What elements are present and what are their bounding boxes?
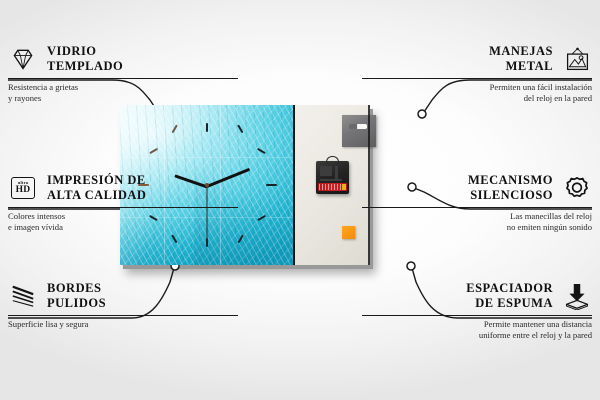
feature-title: MANEJAS METAL: [489, 44, 553, 75]
feature-header: ESPACIADOR DE ESPUMA: [362, 281, 592, 312]
feature-underline: [8, 78, 238, 79]
feature-header: MECANISMO SILENCIOSO: [362, 173, 592, 204]
metal-hanger-plate: [342, 115, 376, 147]
movement-detail: [335, 166, 338, 180]
feature-description: Las manecillas del reloj no emiten ningú…: [362, 211, 592, 234]
panel-seam: [120, 157, 294, 158]
movement-detail: [320, 179, 342, 181]
gear-icon: [562, 174, 592, 202]
feature-header: BORDES PULIDOS: [8, 281, 238, 312]
movement-detail: [320, 166, 332, 176]
feature-description: Superficie lisa y segura: [8, 319, 238, 330]
clock-back-panel: [294, 105, 370, 265]
diamond-icon: [8, 45, 38, 73]
feature-espaciador-espuma: ESPACIADOR DE ESPUMA Permite mantener un…: [362, 281, 592, 341]
feature-header: MANEJAS METAL: [362, 44, 592, 75]
movement-hanging-loop: [326, 156, 339, 164]
label-text-lines: [319, 184, 342, 190]
feature-description: Permite mantener una distancia uniforme …: [362, 319, 592, 342]
feature-header: VIDRIO TEMPLADO: [8, 44, 238, 75]
clock-tick: [206, 123, 208, 132]
diagonal-lines-icon: [8, 282, 38, 310]
feature-bordes-pulidos: BORDES PULIDOS Superficie lisa y segura: [8, 281, 238, 330]
feature-title: ESPACIADOR DE ESPUMA: [466, 281, 553, 312]
feature-underline: [8, 207, 238, 208]
infographic-stage: VIDRIO TEMPLADO Resistencia a grietas y …: [0, 0, 600, 400]
panel-divider-edge: [293, 105, 295, 265]
feature-underline: [8, 315, 238, 316]
feature-underline: [362, 207, 592, 208]
clock-tick: [266, 184, 277, 186]
feature-impresion-alta-calidad: ultra HD IMPRESIÓN DE ALTA CALIDAD Color…: [8, 173, 238, 233]
hd-main-label: HD: [16, 186, 31, 196]
connector-dot-manejas: [418, 110, 426, 118]
label-tag: [342, 184, 346, 190]
feature-description: Permiten una fácil instalación del reloj…: [362, 82, 592, 105]
movement-battery-label: [318, 183, 347, 191]
clock-movement-mechanism: [316, 161, 349, 194]
feature-vidrio-templado: VIDRIO TEMPLADO Resistencia a grietas y …: [8, 44, 238, 104]
feature-underline: [362, 78, 592, 79]
hd-badge: ultra HD: [11, 177, 35, 199]
feature-title: IMPRESIÓN DE ALTA CALIDAD: [47, 173, 146, 204]
feature-manejas-metal: MANEJAS METAL Permiten una fácil instala…: [362, 44, 592, 104]
feature-description: Colores intensos e imagen vívida: [8, 211, 238, 234]
feature-title: MECANISMO SILENCIOSO: [468, 173, 553, 204]
ultra-hd-badge-icon: ultra HD: [8, 174, 38, 202]
arrow-down-onto-pad-icon: [562, 282, 592, 310]
feature-description: Resistencia a grietas y rayones: [8, 82, 238, 105]
feature-header: ultra HD IMPRESIÓN DE ALTA CALIDAD: [8, 173, 238, 204]
framed-picture-hanging-icon: [562, 45, 592, 73]
feature-title: BORDES PULIDOS: [47, 281, 106, 312]
foam-spacer-pad: [342, 226, 355, 239]
hanger-slot: [349, 124, 367, 129]
feature-underline: [362, 315, 592, 316]
feature-title: VIDRIO TEMPLADO: [47, 44, 123, 75]
connector-dot-espaciador: [407, 262, 415, 270]
feature-mecanismo-silencioso: MECANISMO SILENCIOSO Las manecillas del …: [362, 173, 592, 233]
